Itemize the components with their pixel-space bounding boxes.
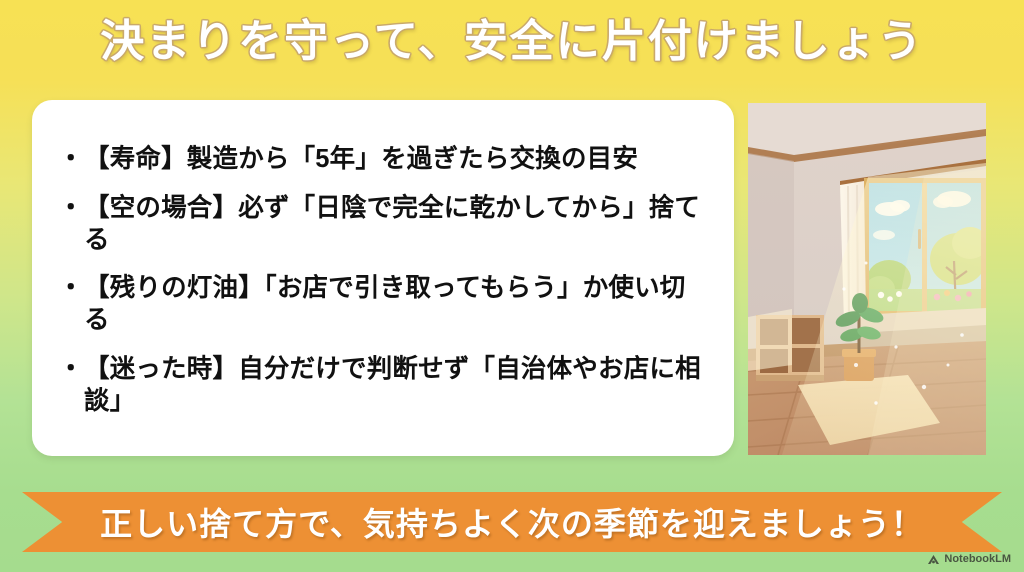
bullet-marker-icon: ・: [58, 273, 84, 305]
bullet-marker-icon: ・: [58, 354, 84, 386]
list-item: ・ 【残りの灯油】「お店で引き取ってもらう」か使い切る: [58, 273, 708, 337]
notebooklm-logo-icon: [927, 554, 940, 565]
list-item-label: 【迷った時】自分だけで判断せず「自治体やお店に相談」: [84, 354, 708, 418]
page-title-container: 決まりを守って、安全に片付けましょう: [0, 14, 1024, 69]
room-illustration: [748, 103, 986, 455]
list-item-label: 【残りの灯油】「お店で引き取ってもらう」か使い切る: [84, 273, 708, 337]
content-card: ・ 【寿命】製造から「5年」を過ぎたら交換の目安 ・ 【空の場合】必ず「日陰で完…: [32, 100, 734, 456]
list-item-label: 【空の場合】必ず「日陰で完全に乾かしてから」捨てる: [84, 193, 708, 257]
notebooklm-watermark-label: NotebookLM: [944, 553, 1011, 565]
list-item: ・ 【空の場合】必ず「日陰で完全に乾かしてから」捨てる: [58, 193, 708, 257]
footer-ribbon: 正しい捨て方で、気持ちよく次の季節を迎えましょう！: [22, 492, 1002, 552]
footer-ribbon-label: 正しい捨て方で、気持ちよく次の季節を迎えましょう！: [100, 499, 924, 545]
slide-root: 決まりを守って、安全に片付けましょう ・ 【寿命】製造から「5年」を過ぎたら交換…: [0, 0, 1024, 572]
notebooklm-watermark: NotebookLM: [927, 553, 1011, 565]
list-item: ・ 【迷った時】自分だけで判断せず「自治体やお店に相談」: [58, 354, 708, 418]
bullet-marker-icon: ・: [58, 193, 84, 225]
bullet-marker-icon: ・: [58, 144, 84, 176]
list-item-label: 【寿命】製造から「5年」を過ぎたら交換の目安: [84, 144, 708, 176]
room-illustration-graphic: [748, 103, 986, 455]
page-title: 決まりを守って、安全に片付けましょう: [100, 14, 924, 69]
list-item: ・ 【寿命】製造から「5年」を過ぎたら交換の目安: [58, 144, 708, 176]
